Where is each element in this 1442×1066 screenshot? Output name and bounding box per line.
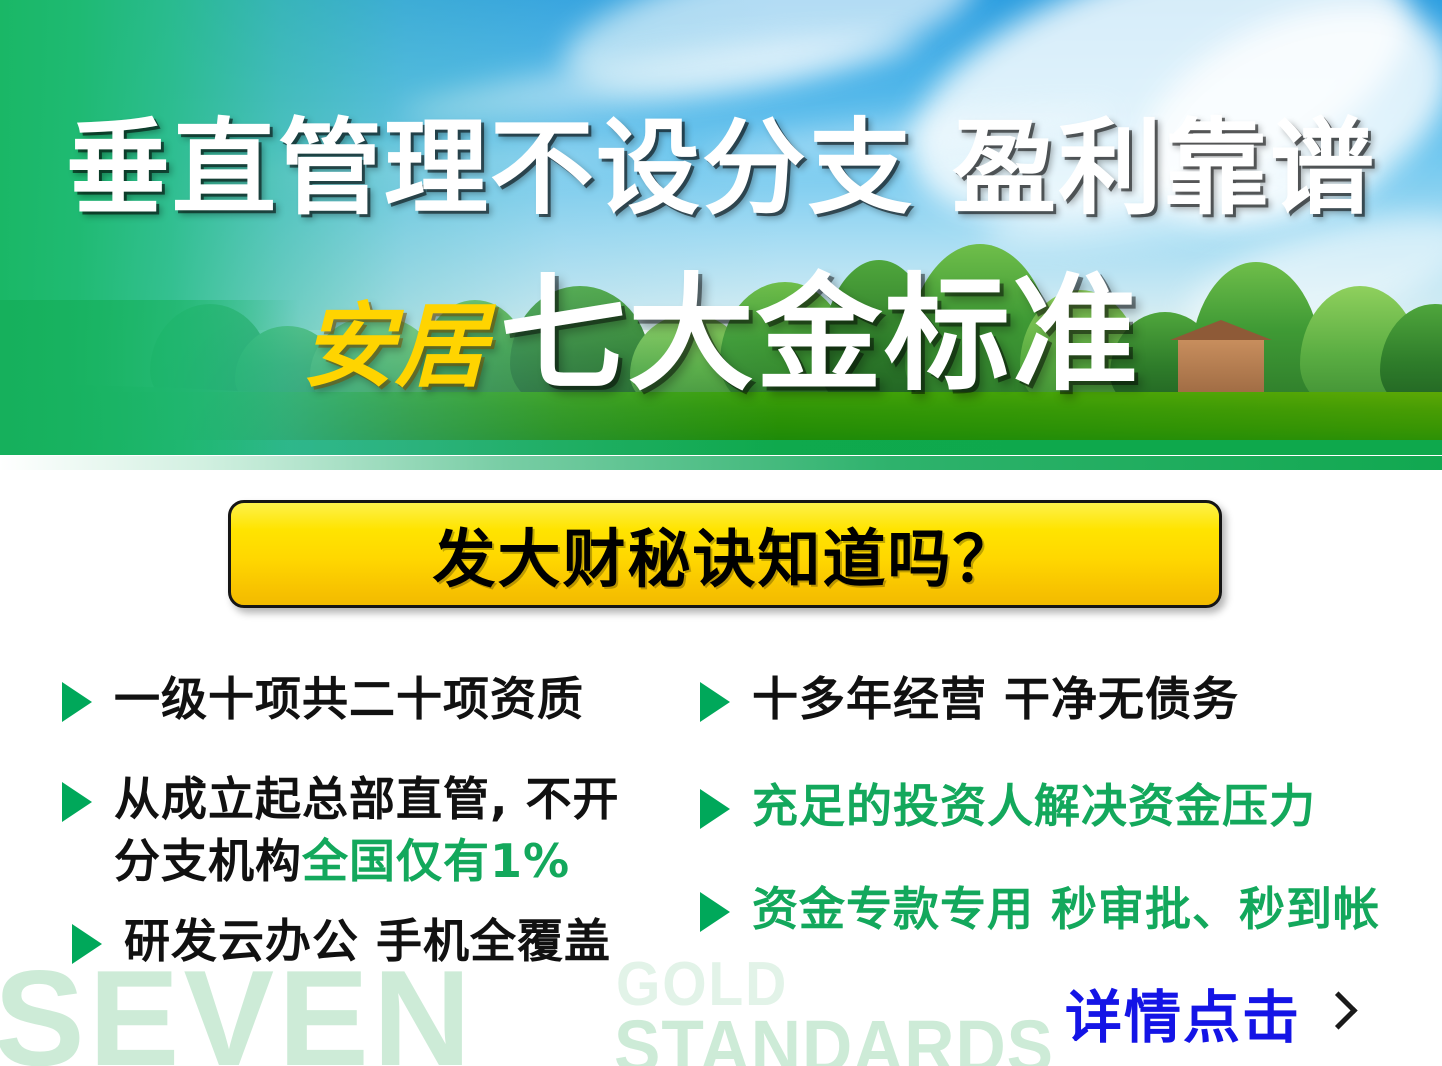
feature-item: 一级十项共二十项资质: [62, 668, 584, 730]
triangle-bullet-icon: [700, 789, 730, 829]
hero-headline-primary: 垂直管理不设分支 盈利靠谱: [0, 116, 1442, 220]
hero-brand-label: 安居: [302, 301, 488, 393]
hero-section: 垂直管理不设分支 盈利靠谱 安居七大金标准: [0, 0, 1442, 455]
feature-text: 充足的投资人解决资金压力: [752, 775, 1316, 837]
chevron-right-icon: [1323, 990, 1349, 1036]
triangle-bullet-icon: [72, 924, 102, 964]
feature-item: 资金专款专用 秒审批、秒到帐: [700, 878, 1380, 940]
feature-text: 一级十项共二十项资质: [114, 668, 584, 730]
triangle-bullet-icon: [62, 682, 92, 722]
feature-item: 充足的投资人解决资金压力: [700, 775, 1316, 837]
feature-text-highlight: 全国仅有1%: [302, 834, 570, 888]
hero-bottom-fade: [0, 456, 1442, 470]
feature-item: 十多年经营 干净无债务: [700, 668, 1239, 730]
details-link[interactable]: 详情点击: [1065, 972, 1349, 1054]
promo-question-text: 发大财秘诀知道吗？: [433, 509, 1018, 600]
feature-item: 研发云办公 手机全覆盖: [72, 910, 611, 972]
watermark-standards: STANDARDS: [614, 1010, 1054, 1066]
hero-headline-secondary: 安居七大金标准: [0, 272, 1442, 398]
triangle-bullet-icon: [700, 682, 730, 722]
promo-question-box[interactable]: 发大财秘诀知道吗？: [228, 500, 1222, 608]
promotional-banner: 垂直管理不设分支 盈利靠谱 安居七大金标准 发大财秘诀知道吗？ 一级十项共二十项…: [0, 0, 1442, 1066]
feature-item: 从成立起总部直管, 不开 分支机构全国仅有1%: [62, 768, 620, 892]
feature-text: 从成立起总部直管, 不开 分支机构全国仅有1%: [114, 768, 620, 892]
hero-headline-standards: 七大金标准: [500, 272, 1140, 398]
feature-text: 研发云办公 手机全覆盖: [124, 910, 611, 972]
triangle-bullet-icon: [700, 892, 730, 932]
feature-text: 资金专款专用 秒审批、秒到帐: [752, 878, 1380, 940]
triangle-bullet-icon: [62, 782, 92, 822]
details-link-label: 详情点击: [1065, 972, 1301, 1054]
feature-text: 十多年经营 干净无债务: [752, 668, 1239, 730]
features-section: 一级十项共二十项资质 从成立起总部直管, 不开 分支机构全国仅有1% 研发云办公…: [0, 660, 1442, 990]
